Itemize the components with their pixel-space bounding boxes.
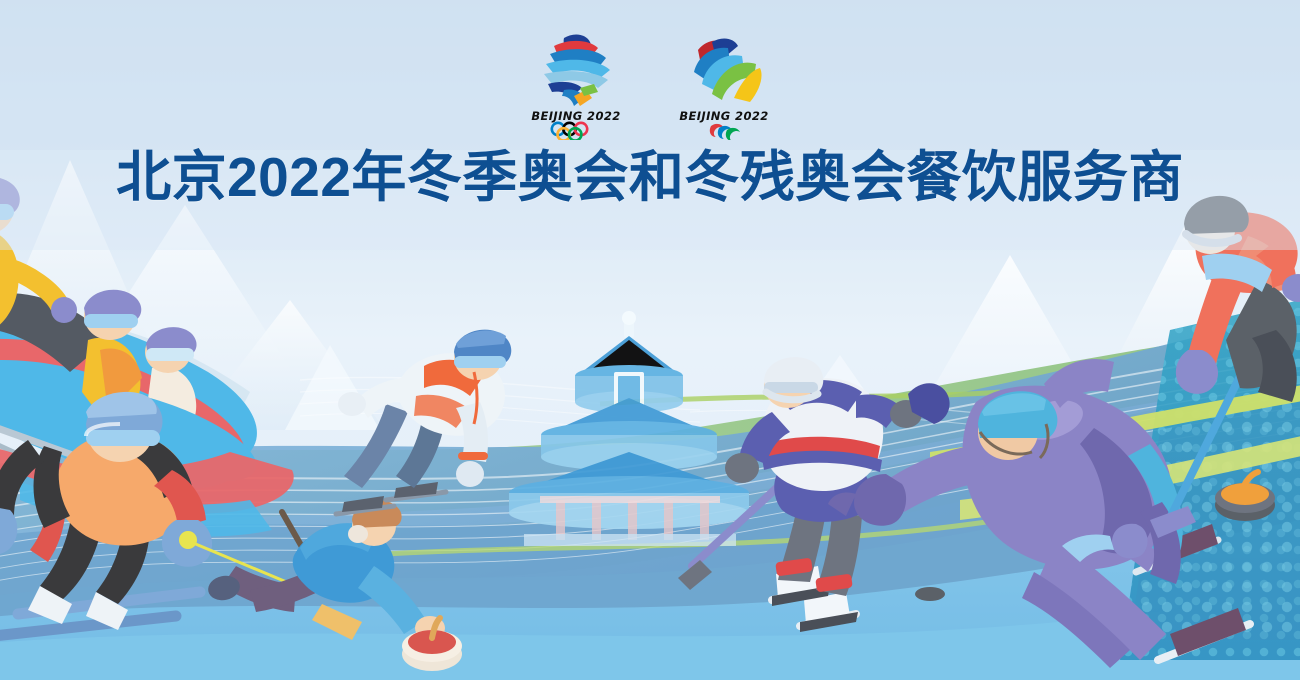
olympic-wordmark: BEIJING 2022 — [531, 109, 620, 123]
agitos-symbol — [710, 124, 740, 140]
paralympic-wordmark: BEIJING 2022 — [679, 109, 768, 123]
page-title: 北京2022年冬季奥会和冬残奥会餐饮服务商 — [0, 145, 1300, 209]
olympic-rings — [552, 123, 587, 140]
olympic-emblem-ribbon — [544, 35, 610, 106]
paralympic-emblem-ribbon — [694, 39, 762, 102]
beijing-2022-olympic-emblem: BEIJING 2022 — [524, 28, 628, 140]
beijing-2022-paralympic-emblem: BEIJING 2022 — [672, 28, 776, 140]
emblem-row: BEIJING 2022 — [0, 28, 1300, 140]
beijing-2022-catering-banner: BEIJING 2022 — [0, 0, 1300, 680]
